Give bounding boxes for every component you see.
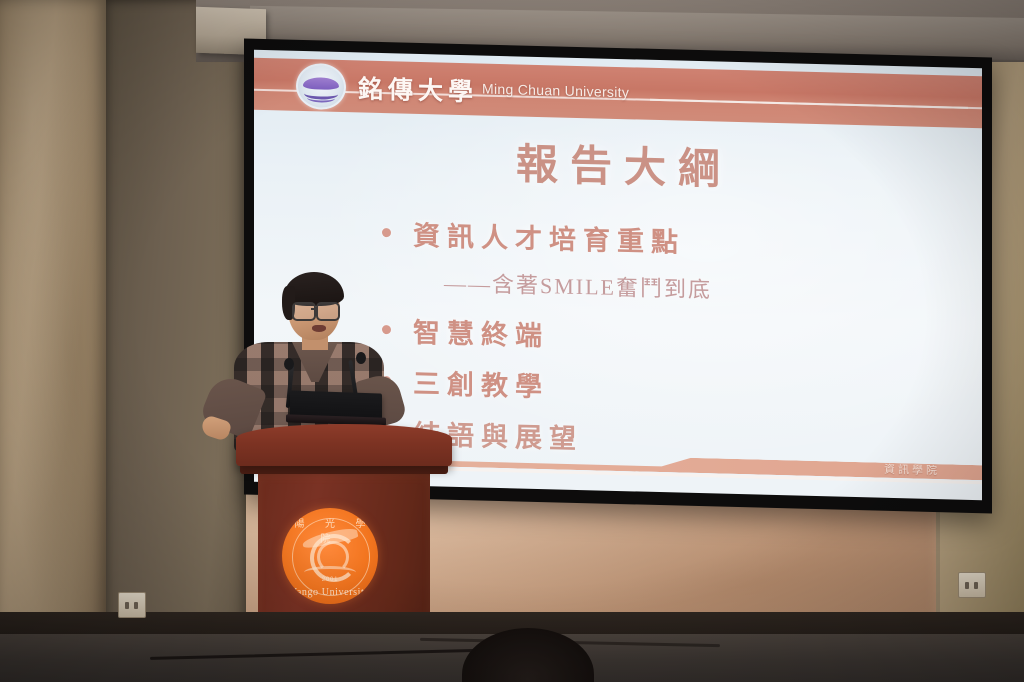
list-item: 智慧終端 bbox=[382, 310, 942, 363]
speaker-mouth bbox=[312, 325, 326, 332]
bullet-label: 智慧終端 bbox=[413, 311, 549, 353]
bullet-label: 資訊人才培育重點 bbox=[413, 214, 685, 260]
wall-outlet-right bbox=[958, 572, 986, 598]
seal-name-en: Yango University bbox=[282, 587, 378, 598]
wall-outlet-left bbox=[118, 592, 146, 618]
glasses-icon bbox=[316, 302, 340, 321]
lecture-hall-photo: 銘傳大學 Ming Chuan University 報告大綱 資訊人才培育重點… bbox=[0, 0, 1024, 682]
list-item: 三創教學 bbox=[382, 361, 942, 414]
yango-university-seal-icon: 陽 光 學 院 2001 Yango University bbox=[282, 508, 378, 604]
ming-chuan-university-logo-icon bbox=[296, 63, 346, 110]
bullet-subtext: ——含著SMILE奮鬥到底 bbox=[444, 266, 942, 311]
slide-header-band: 銘傳大學 Ming Chuan University bbox=[254, 58, 982, 128]
seal-year: 2001 bbox=[282, 577, 378, 583]
glasses-icon bbox=[292, 302, 316, 321]
university-name-cn: 銘傳大學 bbox=[358, 69, 478, 108]
bullet-label: 三創教學 bbox=[413, 362, 549, 404]
university-name-en: Ming Chuan University bbox=[482, 81, 629, 101]
microphone-left-head-icon bbox=[284, 358, 294, 370]
logo-wave-shape-2 bbox=[307, 93, 335, 103]
microphone-right-head-icon bbox=[356, 352, 366, 364]
slide-bullet-list: 資訊人才培育重點 ——含著SMILE奮鬥到底 智慧終端 三創教學 結語與展望 bbox=[382, 213, 942, 477]
header-rule-accent bbox=[650, 99, 968, 109]
footer-org-label: 資訊學院 bbox=[884, 461, 940, 478]
list-item: 資訊人才培育重點 bbox=[382, 213, 942, 266]
glasses-bridge bbox=[311, 308, 317, 310]
slide-title: 報告大綱 bbox=[254, 124, 982, 203]
podium-top bbox=[236, 424, 452, 466]
left-wall-texture bbox=[0, 0, 106, 648]
bullet-dot-icon bbox=[382, 228, 391, 237]
seal-name-cn: 陽 光 學 院 bbox=[282, 515, 378, 545]
